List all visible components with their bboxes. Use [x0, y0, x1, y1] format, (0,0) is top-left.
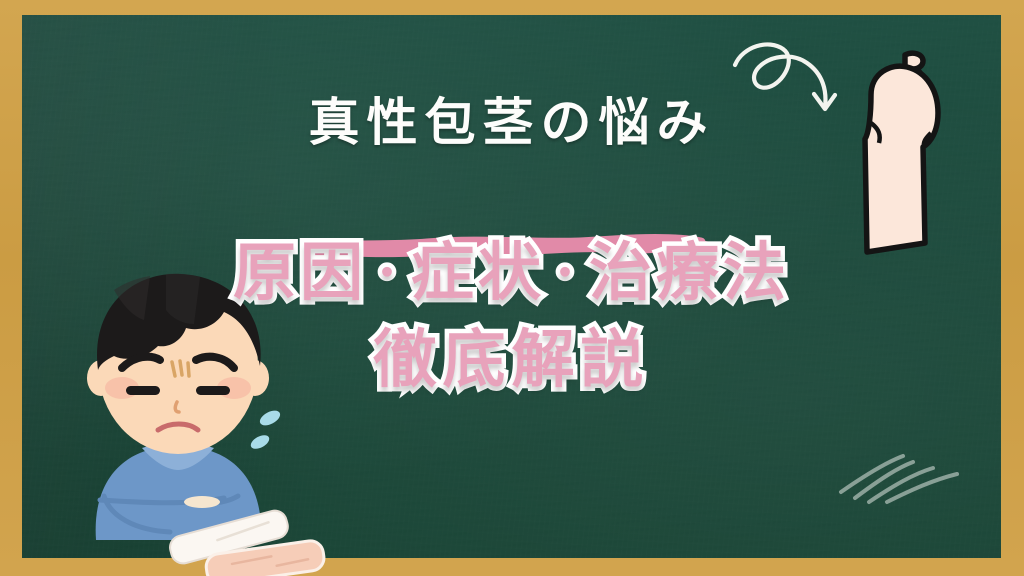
- page-title: 真性包茎の悩み: [300, 97, 722, 151]
- chalkboard-surface: 真性包茎の悩み 原因・症状・治療法 徹底解説: [22, 15, 1001, 558]
- subtitle-line-2: 徹底解説: [22, 317, 1001, 404]
- subtitle-line-1: 原因・症状・治療法: [22, 230, 1001, 317]
- subtitle-part-treatment: 治療法: [589, 236, 790, 309]
- chalk-scribble-icon: [833, 444, 973, 510]
- subtitle-part-symptoms: 症状: [411, 236, 545, 309]
- headline-block: 真性包茎の悩み: [22, 97, 1001, 151]
- subtitle-separator-1: ・: [367, 250, 411, 296]
- thumbnail-canvas: 真性包茎の悩み 原因・症状・治療法 徹底解説: [0, 0, 1024, 576]
- subtitle-separator-2: ・: [545, 250, 589, 296]
- chalk-sticks-group: [120, 492, 370, 576]
- subtitle-block: 原因・症状・治療法 徹底解説: [22, 230, 1001, 404]
- subtitle-part-cause: 原因: [233, 236, 367, 309]
